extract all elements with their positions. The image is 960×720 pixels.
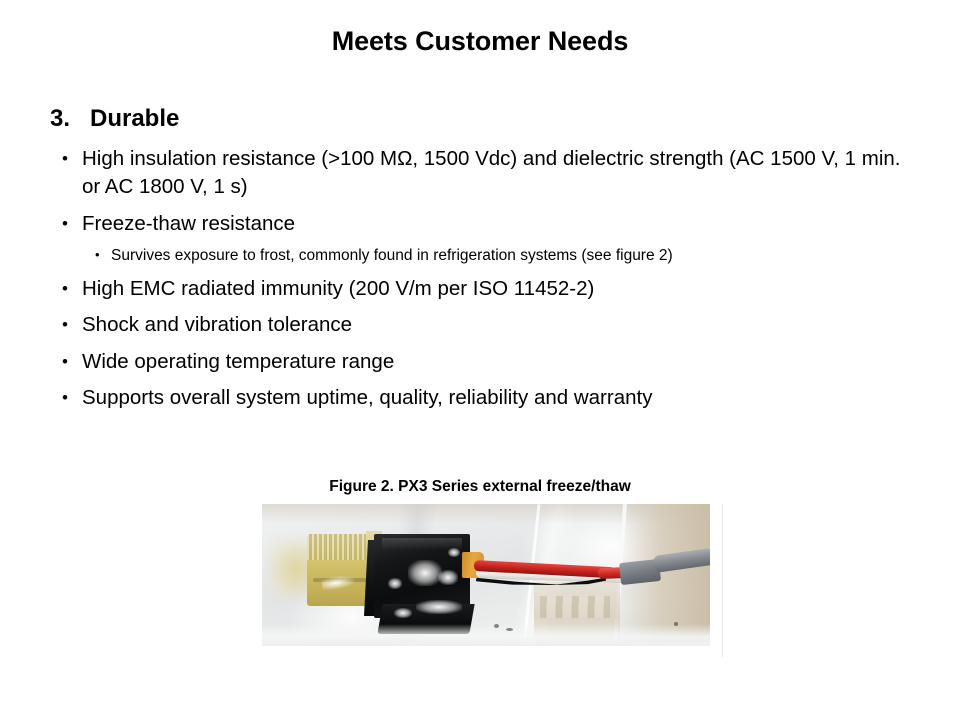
section-number: 3.: [50, 105, 90, 133]
section-heading: 3. Durable: [50, 105, 179, 133]
bullet-dot-icon: •: [62, 311, 82, 338]
list-item: • High insulation resistance (>100 MΩ, 1…: [62, 145, 932, 202]
bullet-dot-icon: •: [62, 348, 82, 375]
list-item: • Supports overall system uptime, qualit…: [62, 384, 932, 412]
bullet-dot-icon: •: [62, 145, 82, 172]
list-item: • High EMC radiated immunity (200 V/m pe…: [62, 275, 932, 303]
list-item-text: High EMC radiated immunity (200 V/m per …: [82, 275, 932, 303]
list-item: • Freeze-thaw resistance: [62, 210, 932, 238]
sub-list-item-text: Survives exposure to frost, commonly fou…: [111, 246, 932, 266]
frost-patch: [408, 560, 442, 586]
debris-speck: [674, 622, 678, 626]
list-item-text: Shock and vibration tolerance: [82, 311, 932, 339]
debris-speck: [494, 624, 499, 628]
bullet-dot-icon: •: [62, 275, 82, 302]
figure-bottom-margin: [262, 646, 710, 657]
debris-speck: [506, 628, 513, 631]
frost-patch: [394, 608, 412, 618]
bullet-dot-icon: •: [62, 384, 82, 411]
ice-surface-bottom: [262, 624, 710, 646]
list-item: • Wide operating temperature range: [62, 348, 932, 376]
bullet-dot-icon: •: [62, 210, 82, 237]
sub-list-item: • Survives exposure to frost, commonly f…: [95, 246, 932, 266]
frost-patch: [438, 570, 458, 585]
bullet-list: • High insulation resistance (>100 MΩ, 1…: [62, 145, 932, 420]
frost-patch: [448, 548, 460, 557]
frost-patch: [388, 578, 402, 589]
section-label: Durable: [90, 105, 179, 133]
page-title: Meets Customer Needs: [0, 26, 960, 57]
list-item-text: Freeze-thaw resistance: [82, 210, 932, 238]
list-item-text: High insulation resistance (>100 MΩ, 150…: [82, 145, 932, 202]
figure-container: [262, 504, 722, 657]
list-item: • Shock and vibration tolerance: [62, 311, 932, 339]
freeze-thaw-photo: [262, 504, 710, 646]
list-item-text: Wide operating temperature range: [82, 348, 932, 376]
frost-patch: [416, 600, 462, 614]
slide-canvas: Meets Customer Needs 3. Durable • High i…: [0, 0, 960, 720]
bullet-dot-icon: •: [95, 246, 111, 265]
figure-right-margin: [710, 504, 723, 657]
figure-caption: Figure 2. PX3 Series external freeze/tha…: [0, 478, 960, 496]
list-item-text: Supports overall system uptime, quality,…: [82, 384, 932, 412]
